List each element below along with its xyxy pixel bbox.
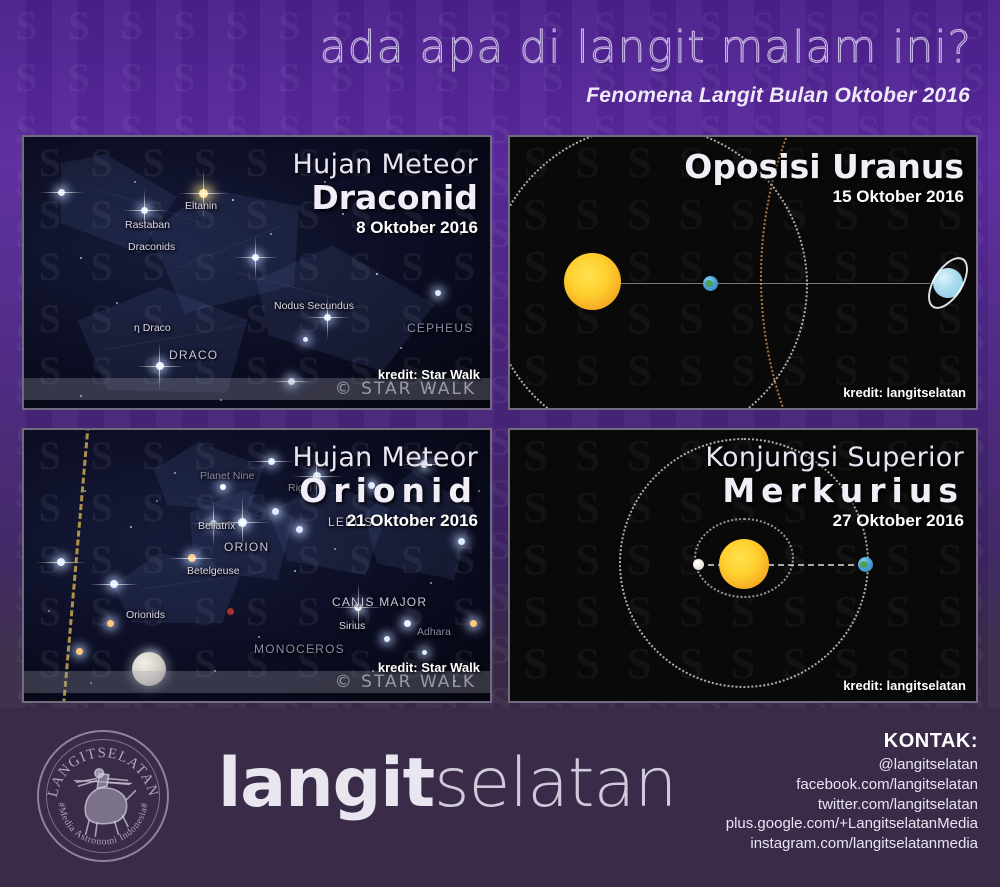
constellation-label-cepheus: CEPHEUS [407,321,473,335]
page-title: ada apa di langit malam ini? [320,22,972,73]
panel-credit: kredit: langitselatan [843,385,966,400]
starwalk-watermark-text: © STAR WALK [335,379,476,399]
star-adhara [470,620,477,627]
panel-title-uranus: Oposisi Uranus 15 Oktober 2016 [684,149,964,207]
panel-credit: kredit: langitselatan [843,678,966,693]
wordmark-bold: langit [218,744,434,823]
star-label-nodus-secundus: Nodus Secundus [274,300,354,312]
panel-kicker: Hujan Meteor [293,442,478,473]
radiant-label-orionids: Orionids [126,609,165,621]
star-label-eltanin: Eltanin [185,200,217,212]
panel-kicker: Hujan Meteor [293,149,478,180]
mercury-body [693,559,704,570]
panel-title-orionid: Hujan Meteor Orionid 21 Oktober 2016 [293,442,478,531]
contact-handle[interactable]: @langitselatan [726,755,978,775]
star-label-rastaban: Rastaban [125,219,170,231]
header: ada apa di langit malam ini? Fenomena La… [0,0,1000,128]
wordmark-light: selatan [434,744,676,823]
contact-google-plus[interactable]: plus.google.com/+LangitselatanMedia [726,814,978,834]
star-label-adhara: Adhara [417,626,451,638]
panel-draconid[interactable]: SSSSSSSSSSSSSSSSSSSSSSSSSSSSSSSSSSSSSSSS… [22,135,492,410]
logo-artwork: LANGITSELATAN #Media Astronomi Indonesia… [39,732,167,860]
earth-body [858,557,873,572]
constellation-label-canis-major: CANIS MAJOR [332,595,427,609]
wordmark: langitselatan [218,750,676,818]
star-label-bellatrix: Bellatrix [198,520,235,532]
sun-body [564,253,621,310]
poster-root: SSSSSSSSSSSSSSSSSSSSSSSSSSSSSSSSSSSSSSSS… [0,0,1000,887]
sun-body [719,539,769,589]
star-label-eta-draco: η Draco [134,322,171,334]
contact-heading: KONTAK: [726,730,978,753]
star-label-betelgeuse: Betelgeuse [187,565,240,577]
contact-instagram[interactable]: instagram.com/langitselatanmedia [726,834,978,854]
contact-facebook[interactable]: facebook.com/langitselatan [726,775,978,795]
radiant-label-draconids: Draconids [128,241,175,253]
constellation-label-draco: DRACO [169,348,218,362]
panel-merkurius[interactable]: SSSSSSSSSSSSSSSSSSSSSSSSSSSSSSSSSSSSSSSS… [508,428,978,703]
panel-name: Merkurius [705,471,964,510]
star-label-sirius: Sirius [339,620,365,632]
star-label-planet-nine: Planet Nine [200,470,254,482]
contact-twitter[interactable]: twitter.com/langitselatan [726,795,978,815]
starwalk-watermark-text: © STAR WALK [335,672,476,692]
panel-date: 21 Oktober 2016 [293,511,478,531]
panel-name: Oposisi Uranus [684,147,964,186]
panel-orionid[interactable]: SSSSSSSSSSSSSSSSSSSSSSSSSSSSSSSSSSSSSSSS… [22,428,492,703]
panel-credit: kredit: Star Walk [378,367,480,382]
constellation-label-monoceros: MONOCEROS [254,642,345,656]
panel-date: 27 Oktober 2016 [705,511,964,531]
alignment-line [610,283,930,284]
panel-name: Draconid [293,178,478,217]
langitselatan-logo[interactable]: LANGITSELATAN #Media Astronomi Indonesia… [37,730,169,862]
orionid-radiant-marker [227,608,234,615]
constellation-label-orion: ORION [224,540,269,554]
panel-kicker: Konjungsi Superior [705,442,964,473]
panel-date: 8 Oktober 2016 [293,218,478,238]
footer: LANGITSELATAN #Media Astronomi Indonesia… [0,708,1000,887]
page-subtitle: Fenomena Langit Bulan Oktober 2016 [586,84,970,108]
panel-name: Orionid [293,471,478,510]
panel-title-merkurius: Konjungsi Superior Merkurius 27 Oktober … [705,442,964,531]
star-planet-nine [220,484,226,490]
panel-uranus[interactable]: SSSSSSSSSSSSSSSSSSSSSSSSSSSSSSSSSSSSSSSS… [508,135,978,410]
panel-date: 15 Oktober 2016 [684,187,964,207]
panel-title-draconid: Hujan Meteor Draconid 8 Oktober 2016 [293,149,478,238]
earth-body [703,276,718,291]
contact-block: KONTAK: @langitselatan facebook.com/lang… [726,730,978,854]
panel-credit: kredit: Star Walk [378,660,480,675]
